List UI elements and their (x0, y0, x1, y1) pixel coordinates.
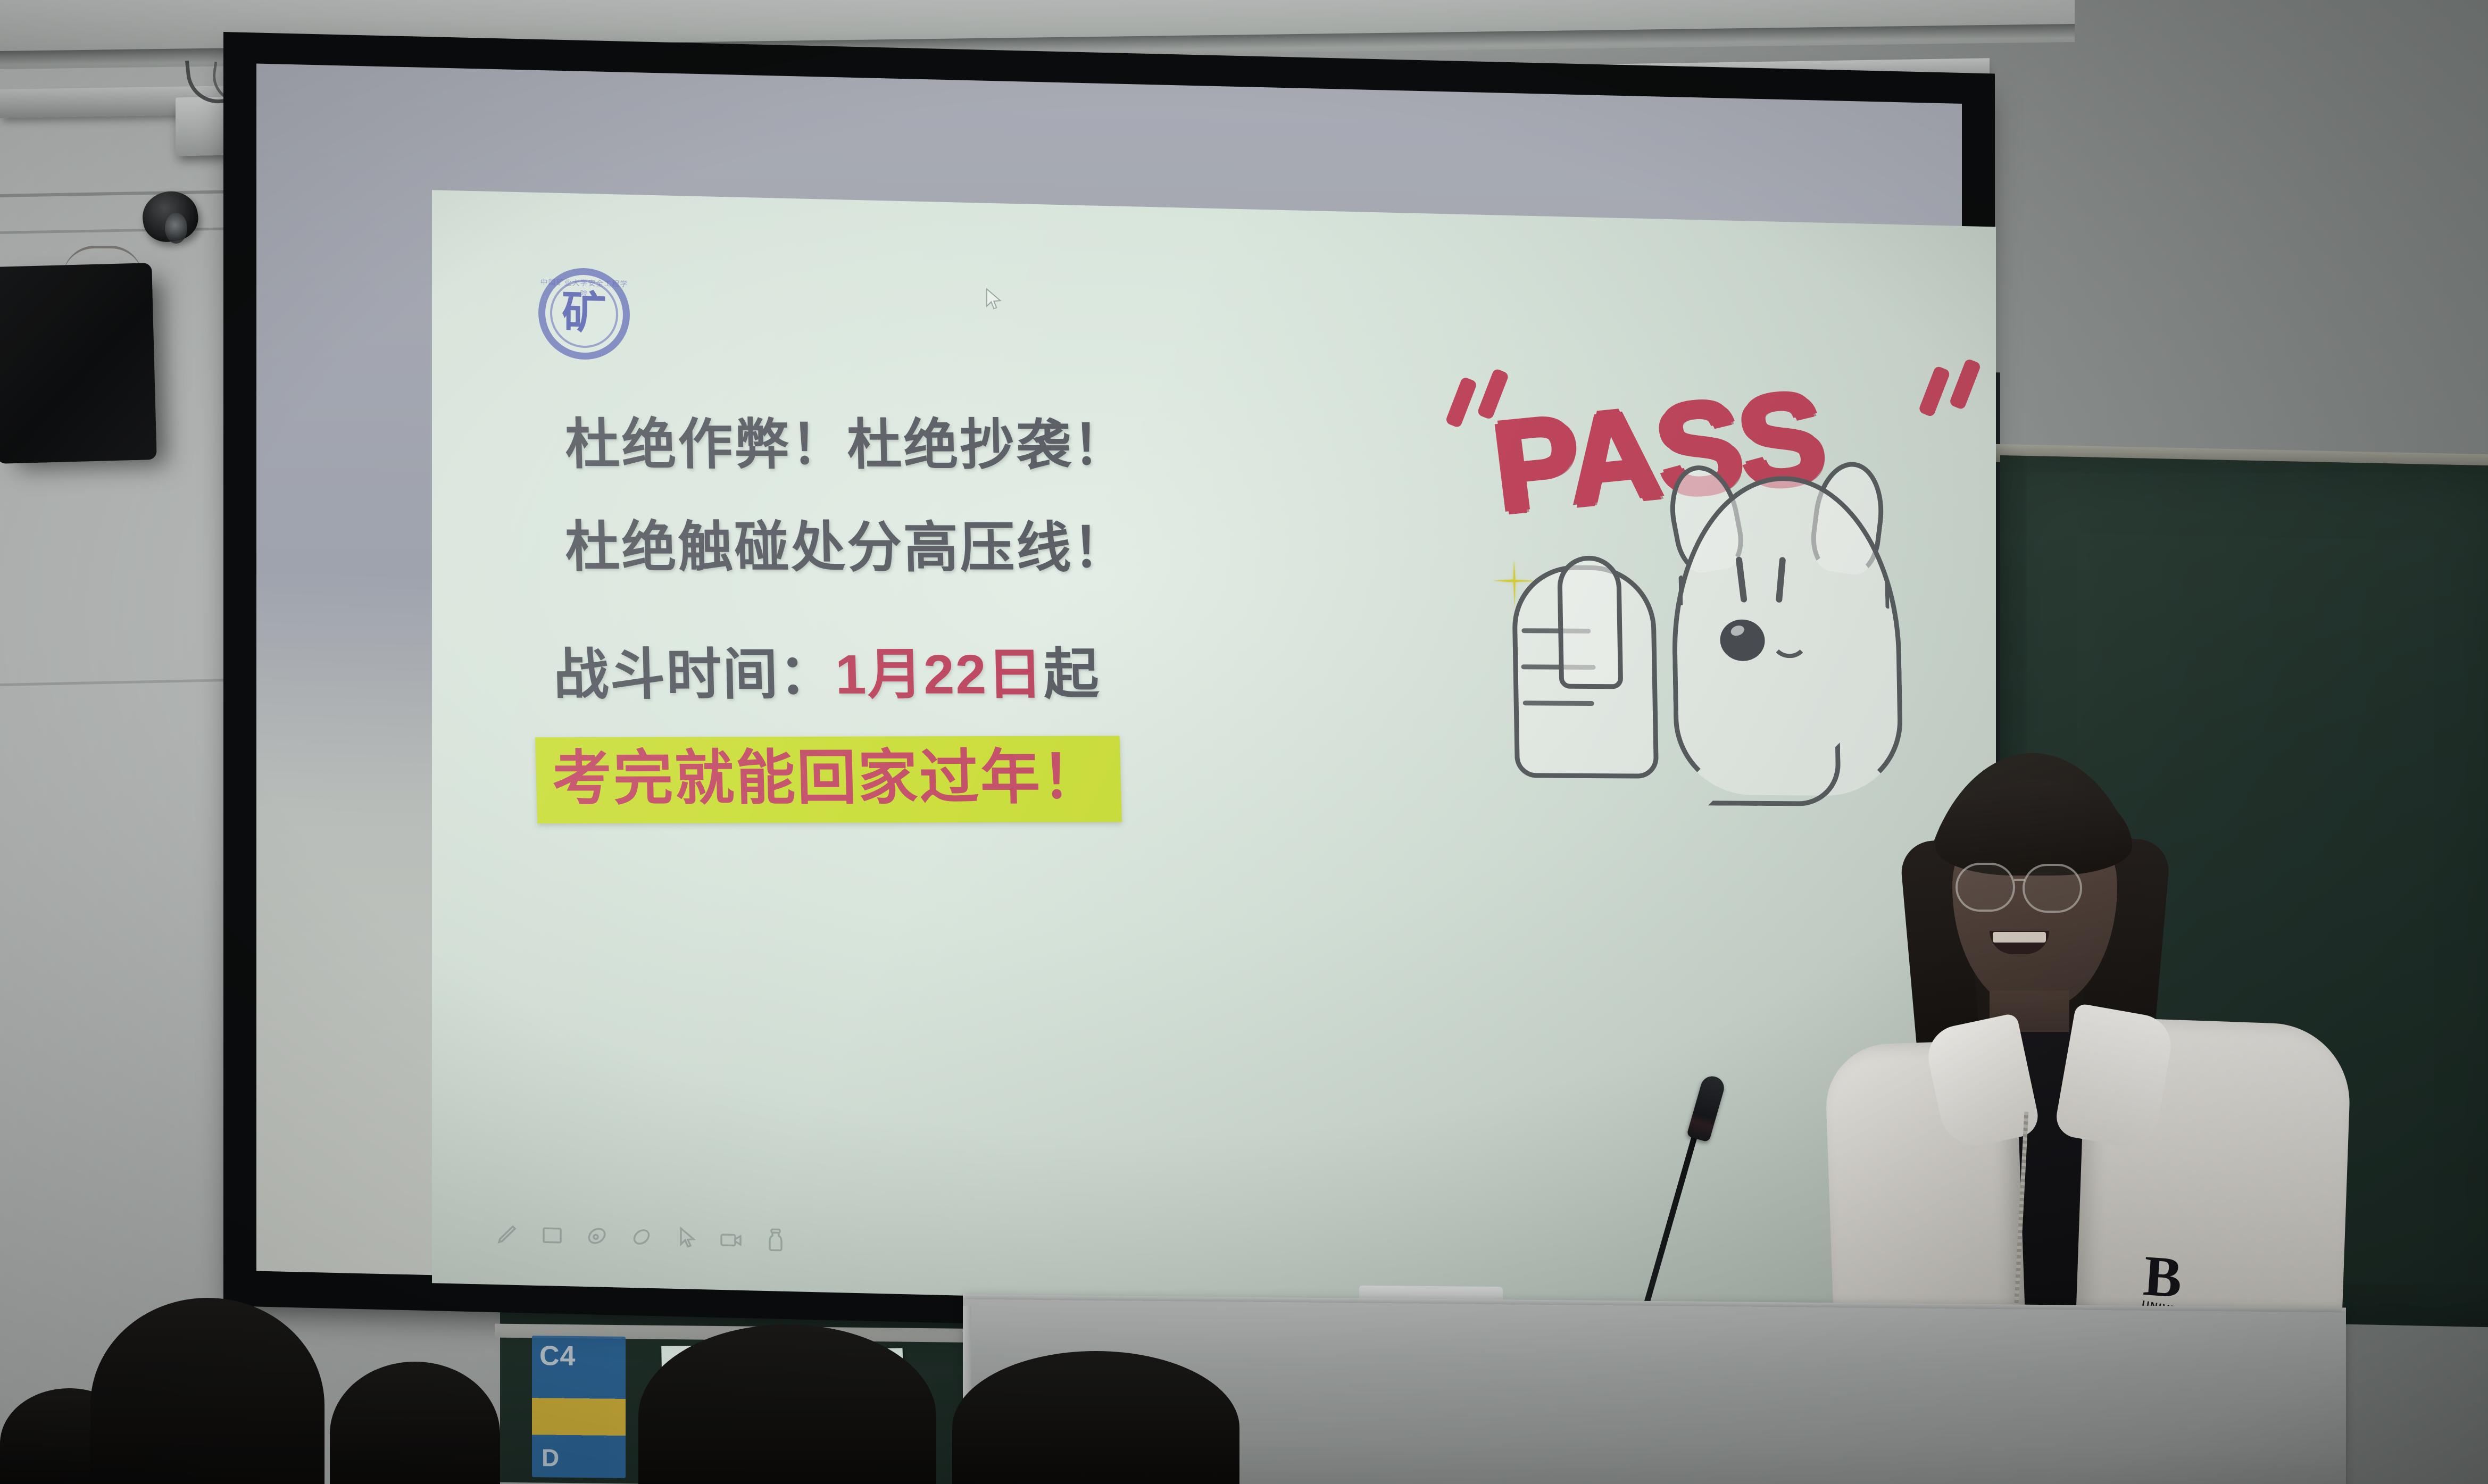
camera-lens-icon (165, 213, 187, 244)
thumb-icon (1557, 556, 1623, 689)
bear-cheek-left (1678, 576, 1684, 605)
presenter-person: B UNIVERSITY (1830, 745, 2442, 1383)
classroom-scene: D 中国矿业大学安全工程学院 矿 杜绝作弊！杜绝抄袭！ 杜绝触碰处分高压线！ (0, 0, 2488, 1484)
eraser-icon[interactable] (629, 1224, 654, 1250)
presentation-slide[interactable]: 中国矿业大学安全工程学院 矿 杜绝作弊！杜绝抄袭！ 杜绝触碰处分高压线！ 战斗时… (432, 190, 1996, 1320)
slide-headline-2: 杜绝触碰处分高压线！ (564, 503, 1470, 583)
eyeglasses-left-lens-icon (1956, 863, 2015, 912)
ink-bottle-icon[interactable] (763, 1227, 788, 1253)
highlighter-icon[interactable] (584, 1223, 610, 1249)
wall-panel-c4: D (532, 1336, 626, 1478)
camera-icon[interactable] (718, 1226, 744, 1252)
exam-time-value: 1月22日 (835, 644, 1044, 705)
exam-time-suffix: 起 (1043, 644, 1101, 705)
pointer-icon[interactable] (673, 1225, 699, 1251)
quote-mark-left-icon (1445, 376, 1478, 428)
highlight-text: 考完就能回家过年！ (551, 744, 1103, 812)
slide-headline-block: 杜绝作弊！杜绝抄袭！ 杜绝触碰处分高压线！ (565, 390, 1469, 593)
university-emblem-icon: 中国矿业大学安全工程学院 矿 (538, 267, 630, 361)
quote-mark-right-icon (1918, 365, 1951, 418)
ppt-presentation-toolbar[interactable] (495, 1221, 788, 1253)
bear-nose (1720, 619, 1765, 661)
bear-cheek-right (1885, 579, 1891, 608)
projection-screen: 中国矿业大学安全工程学院 矿 杜绝作弊！杜绝抄袭！ 杜绝触碰处分高压线！ 战斗时… (223, 32, 1995, 1347)
emblem-glyph: 矿 (538, 290, 630, 337)
slide-headline-1: 杜绝作弊！杜绝抄袭！ (564, 400, 1470, 481)
highlight-band: 考完就能回家过年！ (535, 736, 1122, 823)
pen-icon[interactable] (495, 1221, 520, 1247)
slide-highlight-block: 考完就能回家过年！ (535, 736, 1122, 823)
eyeglasses-bridge (2014, 879, 2025, 881)
slide-exam-time-line: 战斗时间：1月22日起 (552, 629, 1101, 710)
mouse-cursor-icon (985, 288, 1003, 313)
exam-time-label: 战斗时间： (553, 644, 836, 706)
quote-mark-right-icon (1949, 358, 1982, 410)
wall-speaker (0, 263, 157, 464)
wall-panel-code-2: D (542, 1443, 559, 1472)
eyeglasses-right-lens-icon (2023, 864, 2082, 913)
rectangle-icon[interactable] (539, 1222, 565, 1248)
bear-arm (1707, 741, 1841, 806)
